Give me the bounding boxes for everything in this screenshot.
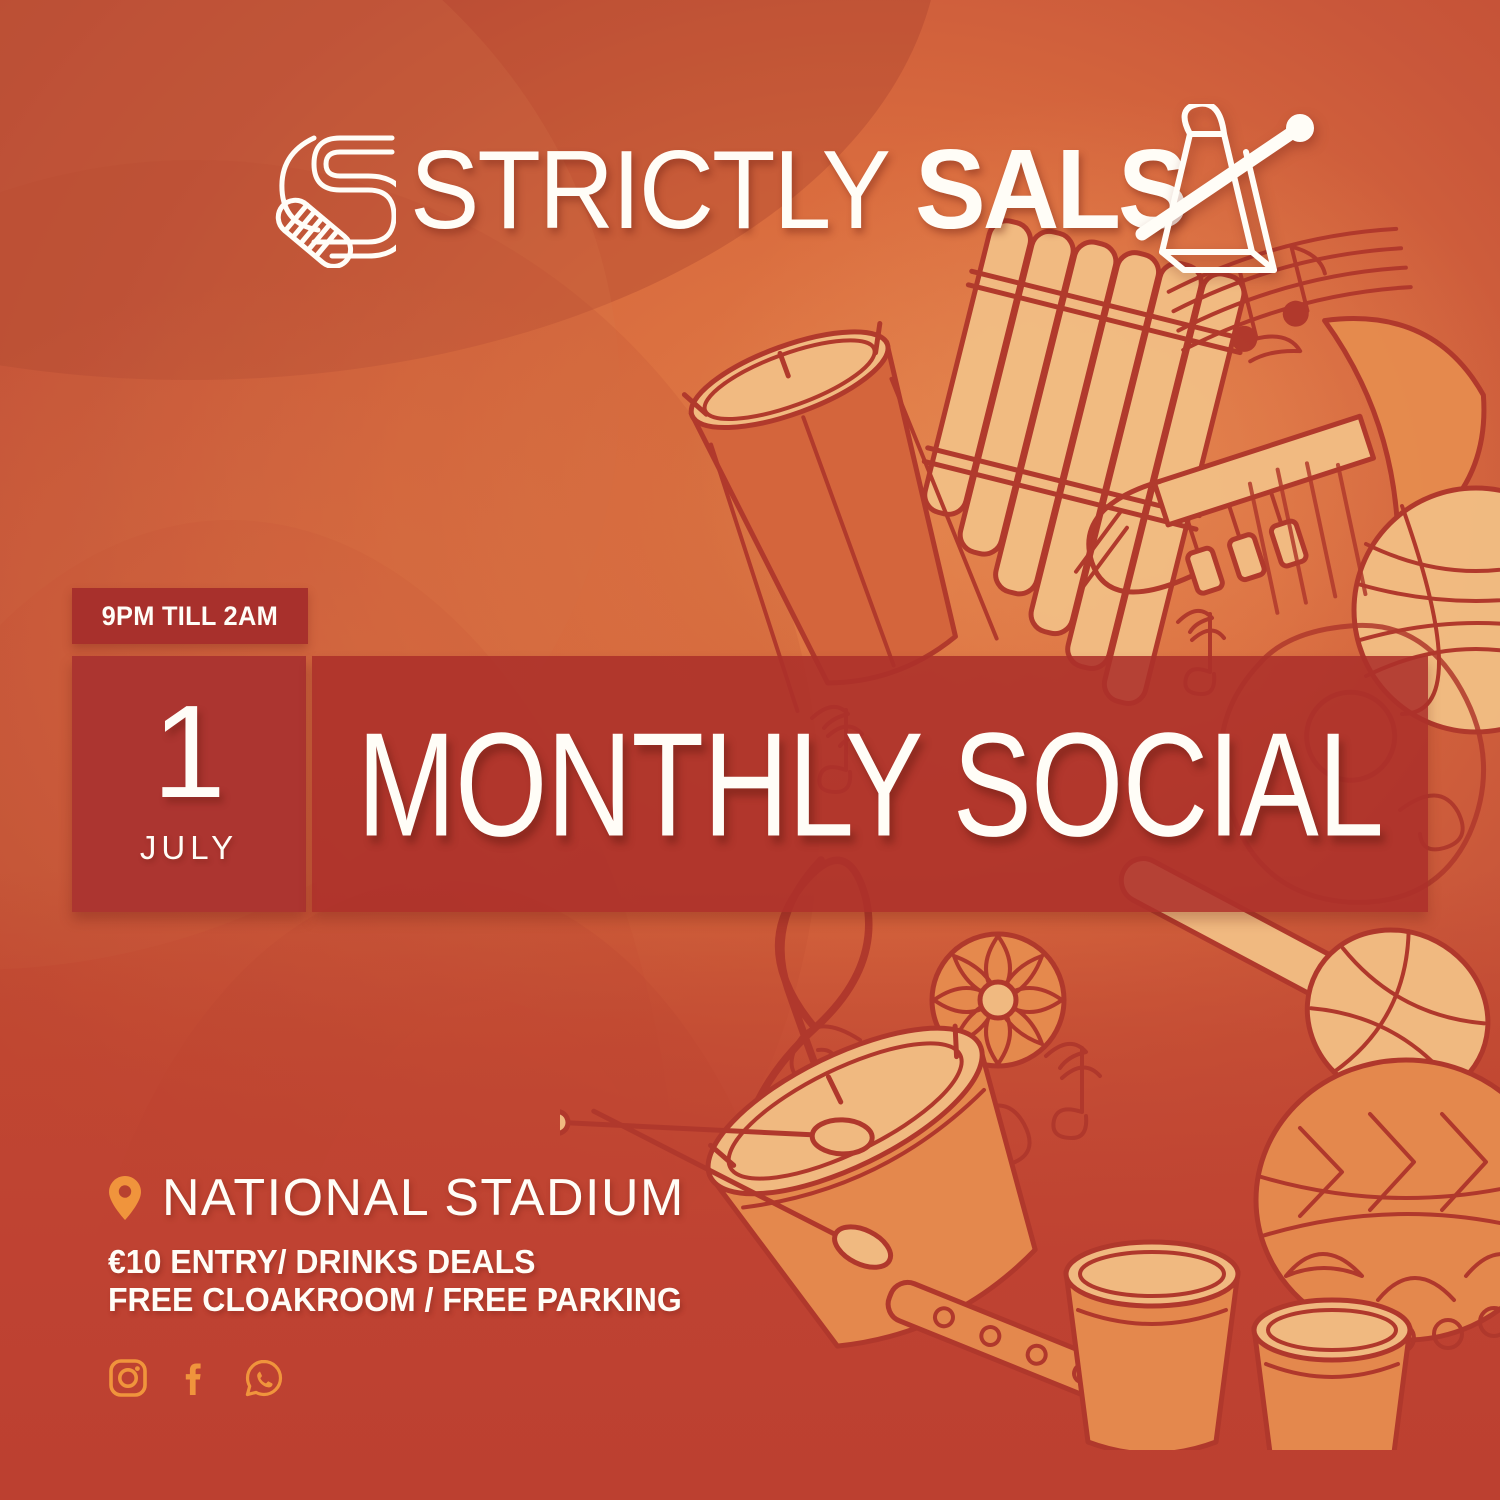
detail-line-entry: €10 ENTRY/ DRINKS DEALS	[108, 1243, 682, 1281]
logo-word-strictly: STRICTLY	[410, 135, 889, 246]
brand-logo: STRICTLY SALS	[268, 108, 1186, 278]
time-badge-label: 9PM TILL 2AM	[102, 601, 278, 632]
venue-row: NATIONAL STADIUM	[108, 1168, 685, 1228]
time-badge: 9PM TILL 2AM	[72, 588, 308, 644]
whatsapp-icon[interactable]	[244, 1358, 284, 1398]
event-details: €10 ENTRY/ DRINKS DEALS FREE CLOAKROOM /…	[108, 1243, 700, 1318]
venue-name: NATIONAL STADIUM	[162, 1168, 685, 1228]
event-title: MONTHLY SOCIAL	[357, 699, 1383, 868]
logo-word-salsa: SALS	[915, 133, 1186, 246]
strictly-salsa-s-monogram-icon	[268, 118, 396, 268]
instagram-icon[interactable]	[108, 1358, 148, 1398]
event-date-day: 1	[152, 695, 225, 809]
event-date-box: 1 JULY	[72, 656, 306, 912]
location-pin-icon	[108, 1175, 142, 1221]
social-links	[108, 1358, 284, 1398]
event-title-band: MONTHLY SOCIAL	[312, 656, 1428, 912]
event-date-month: JULY	[140, 829, 238, 867]
detail-line-facilities: FREE CLOAKROOM / FREE PARKING	[108, 1281, 682, 1319]
event-poster: .o{fill:none;stroke:#B0382C;stroke-width…	[0, 0, 1500, 1500]
facebook-icon[interactable]	[176, 1358, 216, 1398]
